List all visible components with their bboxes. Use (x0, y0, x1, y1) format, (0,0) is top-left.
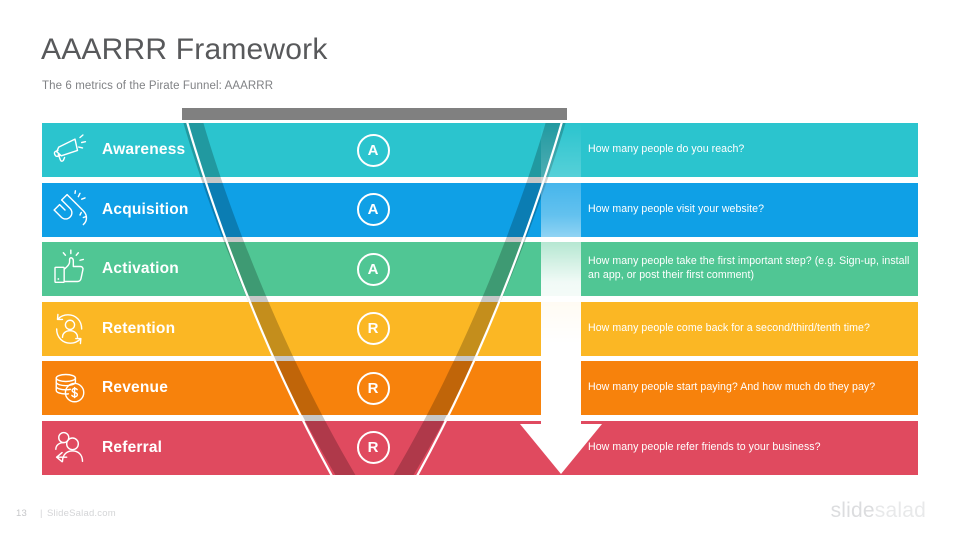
row-label: Awareness (102, 141, 185, 159)
row-label: Referral (102, 439, 162, 457)
funnel-row[interactable]: ReferralRHow many people refer friends t… (0, 421, 960, 475)
letter-badge: A (357, 193, 390, 226)
row-description: How many people take the first important… (582, 255, 918, 283)
logo-text-slide: slide (831, 499, 875, 522)
slide: AAARRR Framework The 6 metrics of the Pi… (0, 0, 960, 540)
letter-badge: A (357, 253, 390, 286)
description-wrapper: How many people come back for a second/t… (582, 302, 918, 356)
funnel-rows: AwarenessAHow many people do you reach? … (0, 0, 960, 540)
row-description: How many people visit your website? (582, 203, 764, 217)
row-label-panel[interactable]: Awareness (42, 123, 326, 177)
footer-page-number: 13 (16, 508, 27, 519)
row-description: How many people do you reach? (582, 143, 744, 157)
people-share-icon (50, 428, 90, 468)
funnel-row[interactable]: RetentionRHow many people come back for … (0, 302, 960, 356)
row-label-panel[interactable]: Referral (42, 421, 326, 475)
row-description-panel[interactable]: How many people refer friends to your bu… (420, 421, 918, 475)
description-wrapper: How many people visit your website? (582, 183, 918, 237)
row-label: Activation (102, 260, 179, 278)
row-description-panel[interactable]: How many people start paying? And how mu… (420, 361, 918, 415)
row-label-panel[interactable]: Activation (42, 242, 326, 296)
row-letter-panel[interactable]: R (326, 302, 420, 356)
coins-icon (50, 368, 90, 408)
row-description: How many people come back for a second/t… (582, 322, 870, 336)
letter-badge: R (357, 372, 390, 405)
letter-badge: R (357, 431, 390, 464)
description-wrapper: How many people start paying? And how mu… (582, 361, 918, 415)
funnel-row[interactable]: ActivationAHow many people take the firs… (0, 242, 960, 296)
description-wrapper: How many people take the first important… (582, 242, 918, 296)
row-letter-panel[interactable]: R (326, 361, 420, 415)
megaphone-icon (50, 130, 90, 170)
row-label: Acquisition (102, 201, 189, 219)
row-description: How many people start paying? And how mu… (582, 381, 875, 395)
row-description-panel[interactable]: How many people visit your website? (420, 183, 918, 237)
thumbs-up-icon (50, 249, 90, 289)
row-label: Revenue (102, 379, 168, 397)
description-wrapper: How many people do you reach? (582, 123, 918, 177)
description-wrapper: How many people refer friends to your bu… (582, 421, 918, 475)
logo-text-salad: salad (875, 499, 926, 522)
row-description: How many people refer friends to your bu… (582, 441, 821, 455)
row-letter-panel[interactable]: R (326, 421, 420, 475)
funnel-row[interactable]: RevenueRHow many people start paying? An… (0, 361, 960, 415)
funnel-row[interactable]: AwarenessAHow many people do you reach? (0, 123, 960, 177)
slidesalad-logo: slidesalad (831, 500, 926, 521)
letter-badge: R (357, 312, 390, 345)
funnel-row[interactable]: AcquisitionAHow many people visit your w… (0, 183, 960, 237)
row-letter-panel[interactable]: A (326, 123, 420, 177)
magnet-icon (50, 190, 90, 230)
letter-badge: A (357, 134, 390, 167)
footer-separator: | (40, 508, 42, 519)
row-letter-panel[interactable]: A (326, 183, 420, 237)
row-letter-panel[interactable]: A (326, 242, 420, 296)
row-label-panel[interactable]: Revenue (42, 361, 326, 415)
row-label: Retention (102, 320, 175, 338)
row-description-panel[interactable]: How many people come back for a second/t… (420, 302, 918, 356)
footer-site-label: SlideSalad.com (47, 508, 116, 519)
user-refresh-icon (50, 309, 90, 349)
row-label-panel[interactable]: Retention (42, 302, 326, 356)
row-description-panel[interactable]: How many people take the first important… (420, 242, 918, 296)
row-label-panel[interactable]: Acquisition (42, 183, 326, 237)
row-description-panel[interactable]: How many people do you reach? (420, 123, 918, 177)
